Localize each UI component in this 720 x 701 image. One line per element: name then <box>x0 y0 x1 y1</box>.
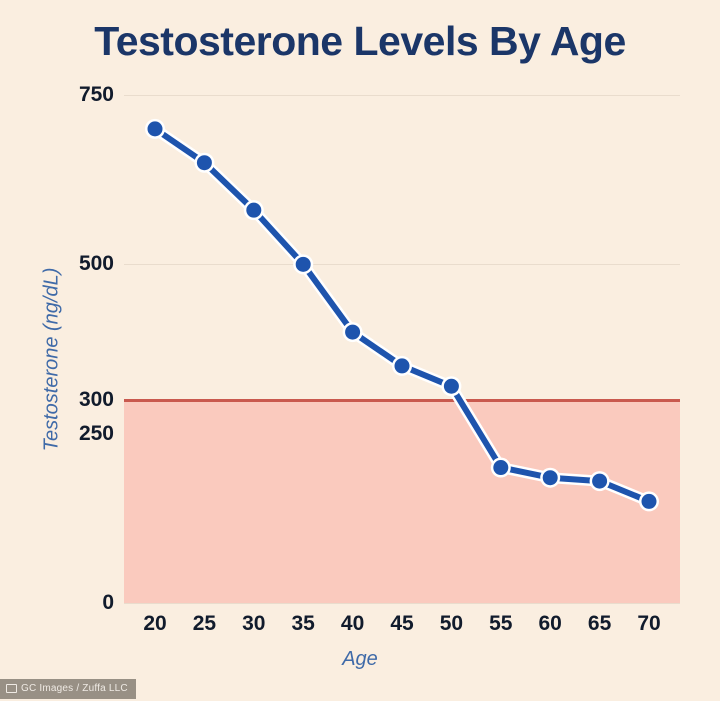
data-point <box>197 155 212 170</box>
data-point <box>395 358 410 373</box>
x-axis-tick-label: 45 <box>390 612 413 636</box>
y-axis-tick-label: 250 <box>79 422 114 446</box>
chart-container: Testosterone Levels By Age Testosterone … <box>0 0 720 701</box>
data-point <box>148 121 163 136</box>
x-axis-title: Age <box>0 648 720 671</box>
data-point <box>444 379 459 394</box>
x-axis-tick-label: 40 <box>341 612 364 636</box>
x-axis-tick-label: 60 <box>539 612 562 636</box>
x-axis-tick-labels: 2025303540455055606570 <box>124 612 680 642</box>
y-axis-tick-label: 0 <box>102 591 114 615</box>
y-axis-tick-labels: 7505003002500 <box>40 95 114 603</box>
data-point <box>592 474 607 489</box>
data-point <box>642 494 657 509</box>
data-point <box>296 257 311 272</box>
x-axis-tick-label: 70 <box>637 612 660 636</box>
data-point <box>246 203 261 218</box>
x-axis-tick-label: 30 <box>242 612 265 636</box>
x-axis-tick-label: 25 <box>193 612 216 636</box>
gridline <box>124 603 680 604</box>
y-axis-tick-label: 300 <box>79 388 114 412</box>
y-axis-tick-label: 500 <box>79 252 114 276</box>
plot-area <box>124 95 680 603</box>
x-axis-tick-label: 20 <box>143 612 166 636</box>
x-axis-tick-label: 65 <box>588 612 611 636</box>
data-point <box>543 470 558 485</box>
watermark-credit: GC Images / Zuffa LLC <box>0 679 136 699</box>
y-axis-tick-label: 750 <box>79 83 114 107</box>
camera-icon <box>6 684 17 693</box>
x-axis-tick-label: 35 <box>292 612 315 636</box>
chart-title: Testosterone Levels By Age <box>0 18 720 65</box>
watermark-text: GC Images / Zuffa LLC <box>21 683 128 694</box>
data-point <box>493 460 508 475</box>
x-axis-tick-label: 50 <box>440 612 463 636</box>
data-series <box>124 95 680 603</box>
x-axis-tick-label: 55 <box>489 612 512 636</box>
data-point <box>345 325 360 340</box>
